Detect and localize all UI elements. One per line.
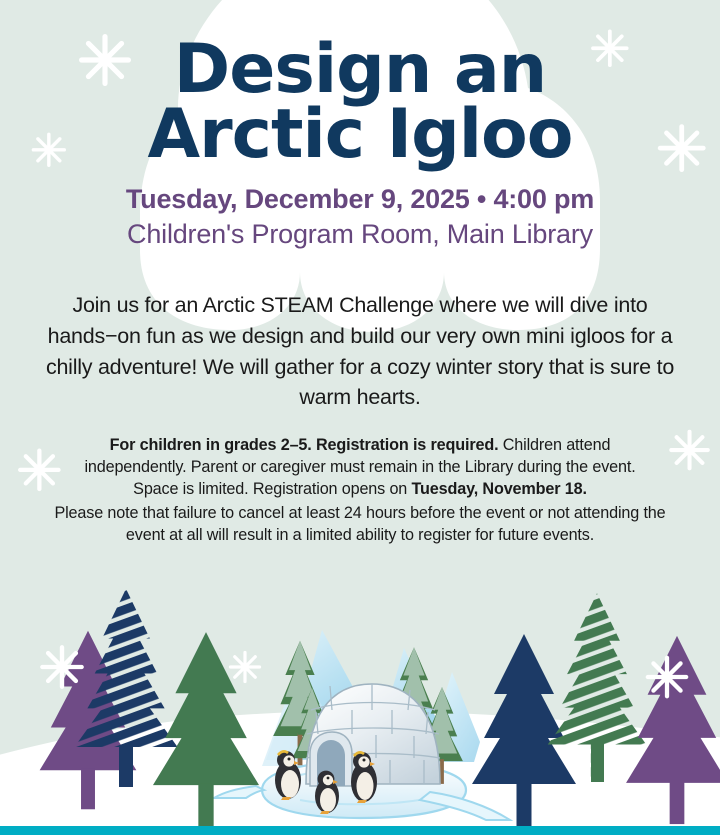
snow-fir-left-2 — [292, 688, 332, 780]
snow-fir-right — [388, 647, 440, 767]
pine-tree-green-striped — [548, 593, 647, 782]
ice-pond — [262, 762, 466, 818]
snow-fir-left — [273, 641, 327, 765]
registration-bold-lead: For children in grades 2–5. Registration… — [110, 436, 499, 454]
event-datetime: Tuesday, December 9, 2025 • 4:00 pm — [0, 184, 720, 215]
title-line-2: Arctic Igloo — [0, 103, 720, 166]
event-location: Children's Program Room, Main Library — [0, 219, 720, 250]
pine-tree-green-solid — [153, 632, 259, 828]
title-line-1: Design an — [0, 38, 720, 101]
igloo-doorway — [317, 740, 345, 786]
ice-pond-right-arm — [420, 792, 510, 820]
penguin-center — [315, 771, 339, 814]
event-description: Join us for an Arctic STEAM Challenge wh… — [37, 290, 683, 412]
igloo — [306, 684, 440, 786]
snowflake-icon-scene-right — [637, 647, 697, 707]
cancellation-policy: Please note that failure to cancel at le… — [52, 502, 668, 546]
ice-pond-left-arm — [214, 786, 264, 798]
pine-tree-navy-striped — [74, 589, 177, 787]
pine-tree-purple-right — [626, 636, 720, 824]
snowflake-icon-scene-mid — [222, 644, 268, 690]
igloo-bricks — [306, 684, 440, 784]
page-title: Design an Arctic Igloo — [0, 0, 720, 166]
penguin-right — [351, 752, 377, 803]
poster-text-content: Design an Arctic Igloo Tuesday, December… — [0, 0, 720, 546]
registration-open-date: Tuesday, November 18. — [412, 480, 587, 498]
igloo-entrance-arch — [310, 732, 352, 786]
registration-details: For children in grades 2–5. Registration… — [60, 434, 660, 500]
bottom-accent-bar — [0, 826, 720, 835]
poster-canvas: Design an Arctic Igloo Tuesday, December… — [0, 0, 720, 835]
pine-tree-navy-solid — [472, 634, 576, 826]
snow-ground — [0, 711, 720, 835]
pine-tree-purple-left — [40, 631, 137, 810]
snow-fir-right-2 — [421, 687, 463, 784]
ice-mountain-group — [262, 630, 480, 766]
penguin-left — [275, 751, 301, 800]
snowflake-icon-scene-left — [31, 636, 93, 698]
